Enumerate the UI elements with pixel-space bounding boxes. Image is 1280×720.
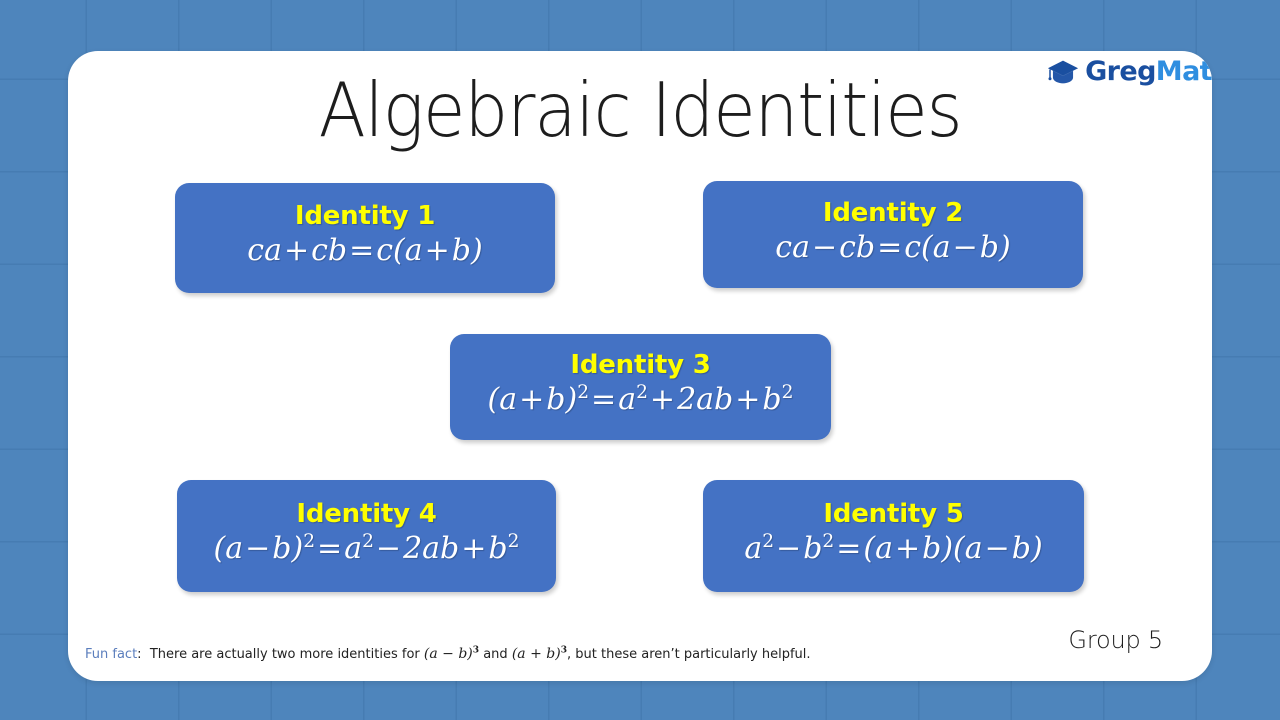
identity-title-4: Identity 4 [296,500,436,530]
fun-fact-note: Fun fact: There are actually two more id… [85,646,811,662]
fun-fact-text-middle: and [479,647,512,662]
formula-operator: + [282,233,311,268]
identity-card-2: Identity 2 ca−cb=c(a−b) [703,181,1083,288]
formula-term: ca [247,233,282,268]
identity-title-1: Identity 1 [295,202,435,232]
formula-operator: − [774,531,803,566]
formula-exponent: 2 [636,382,648,403]
identity-formula-2: ca−cb=c(a−b) [775,229,1010,267]
slide-card: GregMat Algebraic Identities Identity 1 … [68,51,1212,681]
formula-term: a [618,382,636,417]
fun-fact-text-after: , but these aren’t particularly helpful. [567,647,811,662]
identity-formula-3: (a+b)2=a2+2ab+b2 [488,381,794,419]
formula-exponent: 2 [303,531,315,552]
formula-operator: = [315,531,344,566]
formula-term: c(a [904,230,950,265]
formula-exponent: 2 [577,382,589,403]
identity-card-3: Identity 3 (a+b)2=a2+2ab+b2 [450,334,831,440]
formula-term: cb [311,233,347,268]
fun-fact-colon: : [137,647,141,662]
identity-card-5: Identity 5 a2−b2=(a+b)(a−b) [703,480,1084,592]
formula-operator: − [951,230,980,265]
identity-formula-5: a2−b2=(a+b)(a−b) [744,530,1042,568]
formula-exponent: 2 [782,382,794,403]
formula-exponent: 2 [822,531,834,552]
formula-term: a [744,531,762,566]
formula-term: 2ab [403,531,459,566]
formula-operator: = [834,531,863,566]
formula-operator: + [733,382,762,417]
formula-term: (a + b) [512,646,561,662]
formula-term: b [762,382,781,417]
formula-term: b) [546,382,577,417]
formula-term: b) [452,233,483,268]
identity-title-2: Identity 2 [823,199,963,229]
formula-operator: + [423,233,452,268]
formula-term: b [803,531,822,566]
identity-formula-4: (a−b)2=a2−2ab+b2 [214,530,520,568]
formula-term: b [488,531,507,566]
formula-term: b)(a [922,531,983,566]
formula-exponent: 2 [362,531,374,552]
formula-operator: = [589,382,618,417]
formula-operator: + [648,382,677,417]
formula-exponent: 2 [508,531,520,552]
formula-operator: + [893,531,922,566]
identity-card-1: Identity 1 ca+cb=c(a+b) [175,183,555,293]
formula-operator: − [243,531,272,566]
formula-operator: − [810,230,839,265]
identity-title-5: Identity 5 [823,500,963,530]
group-label: Group 5 [1068,626,1163,654]
formula-operator: + [517,382,546,417]
formula-term: 2ab [677,382,733,417]
formula-operator: − [374,531,403,566]
formula-term: (a [214,531,244,566]
fun-fact-label: Fun fact [85,647,137,662]
fun-fact-math-2: (a + b)3 [512,646,567,662]
fun-fact-math-1: (a − b)3 [424,646,479,662]
formula-operator: = [347,233,376,268]
formula-term: b) [272,531,303,566]
formula-operator: − [983,531,1012,566]
formula-term: c(a [376,233,422,268]
formula-exponent: 2 [762,531,774,552]
identity-card-4: Identity 4 (a−b)2=a2−2ab+b2 [177,480,556,592]
formula-operator: + [459,531,488,566]
formula-term: (a [488,382,518,417]
page-title: Algebraic Identities [114,73,1166,148]
formula-term: b) [980,230,1011,265]
fun-fact-text-before: There are actually two more identities f… [150,647,424,662]
formula-term: (a − b) [424,646,473,662]
formula-term: cb [839,230,875,265]
formula-term: a [344,531,362,566]
formula-term: (a [863,531,893,566]
identity-formula-1: ca+cb=c(a+b) [247,232,482,270]
formula-term: b) [1012,531,1043,566]
formula-term: ca [775,230,810,265]
formula-operator: = [875,230,904,265]
identity-title-3: Identity 3 [570,351,710,381]
